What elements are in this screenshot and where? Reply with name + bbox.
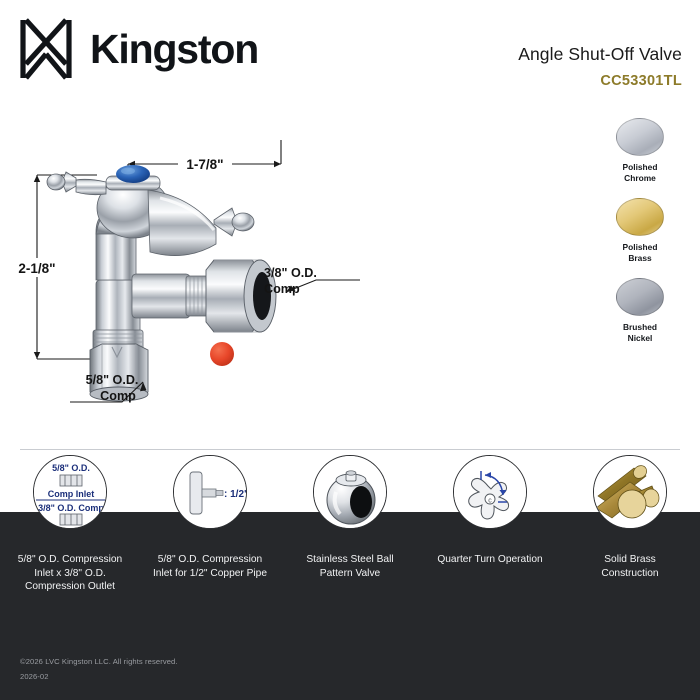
svg-text:c: c (488, 498, 492, 505)
kingston-monogram-icon (18, 18, 74, 80)
feature1-caption-line1: 5/8" O.D. Compression (18, 554, 122, 565)
footer: ©2026 LVC Kingston LLC. All rights reser… (20, 655, 178, 684)
swatch-chip-icon (616, 118, 664, 156)
brass-rods-icon (593, 455, 667, 529)
copper-pipe-icon: : 1/2" (173, 455, 247, 529)
feature-caption: 5/8" O.D. Compression Inlet x 3/8" O.D. … (5, 553, 135, 594)
feature-caption: Quarter Turn Operation (425, 553, 555, 567)
feature2-inner-line1: : 1/2" (224, 489, 247, 500)
feature-item-compression-fitting: 5/8" O.D. Comp Inlet 3/8" O.D. Comp 5/8"… (0, 455, 140, 630)
product-title: Angle Shut-Off Valve (518, 44, 682, 65)
feature5-caption-line1: Solid Brass (604, 554, 656, 565)
finish-label-line1: Polished (623, 242, 658, 252)
swatch-chip-icon (616, 278, 664, 316)
feature2-caption-line1: 5/8" O.D. Compression (158, 554, 262, 565)
feature-list: 5/8" O.D. Comp Inlet 3/8" O.D. Comp 5/8"… (0, 455, 700, 630)
feature-item-quarter-turn: c Quarter Turn Operation (420, 455, 560, 630)
technical-diagram: 1-7/8" 2-1/8" (0, 112, 590, 442)
model-number: CC53301TL (518, 73, 682, 89)
feature-item-steel-ball: Stainless Steel Ball Pattern Valve (280, 455, 420, 630)
dimension-width-label: 1-7/8" (186, 157, 223, 172)
feature-caption: 5/8" O.D. Compression Inlet for 1/2" Cop… (145, 553, 275, 580)
revision-text: 2026-02 (20, 670, 178, 684)
valve-illustration (47, 165, 276, 401)
feature3-caption-line2: Pattern Valve (320, 568, 380, 579)
title-block: Angle Shut-Off Valve CC53301TL (518, 44, 682, 89)
feature2-caption-line2: Inlet for 1/2" Copper Pipe (153, 568, 267, 579)
finish-label-line2: Brass (628, 253, 651, 263)
finish-label-line2: Nickel (628, 333, 653, 343)
finish-label-line1: Polished (623, 162, 658, 172)
quarter-turn-handle-icon: c (453, 455, 527, 529)
finish-label-line1: Brushed (623, 322, 657, 332)
feature1-caption-line3: Compression Outlet (25, 581, 115, 592)
finish-swatch-brushed-nickel[interactable]: Brushed Nickel (588, 278, 692, 344)
feature1-inner-line3: 3/8" O.D. Comp (38, 503, 104, 513)
compression-fitting-icon: 5/8" O.D. Comp Inlet 3/8" O.D. Comp (33, 455, 107, 529)
product-spec-sheet: Kingston Angle Shut-Off Valve CC53301TL … (0, 0, 700, 700)
brand-wordmark: Kingston (90, 29, 258, 70)
section-divider (20, 449, 680, 450)
feature-item-solid-brass: Solid Brass Construction (560, 455, 700, 630)
feature-caption: Solid Brass Construction (565, 553, 695, 580)
callout-outlet: 3/8" O.D. Comp (264, 266, 360, 296)
feature4-caption-line1: Quarter Turn Operation (437, 554, 542, 565)
feature5-caption-line2: Construction (601, 568, 658, 579)
feature1-inner-line1: 5/8" O.D. (52, 463, 90, 473)
feature3-caption-line1: Stainless Steel Ball (306, 554, 393, 565)
callout-outlet-line2: Comp (264, 282, 300, 296)
finish-swatch-list: Polished Chrome Polished Brass Brushed N… (588, 118, 692, 359)
callout-inlet-line1: 5/8" O.D. (86, 373, 139, 387)
header: Kingston Angle Shut-Off Valve CC53301TL (0, 0, 700, 110)
finish-label-line2: Chrome (624, 173, 656, 183)
handle-index-cap-icon (116, 165, 150, 183)
dimension-height-label: 2-1/8" (18, 261, 55, 276)
brand-logo: Kingston (18, 18, 258, 80)
callout-inlet-line2: Comp (100, 389, 136, 403)
feature-item-copper-pipe: : 1/2" 5/8" O.D. Compression Inlet for 1… (140, 455, 280, 630)
callout-outlet-line1: 3/8" O.D. (264, 266, 317, 280)
finish-swatch-polished-brass[interactable]: Polished Brass (588, 198, 692, 264)
swatch-chip-icon (616, 198, 664, 236)
copyright-text: ©2026 LVC Kingston LLC. All rights reser… (20, 655, 178, 669)
feature-caption: Stainless Steel Ball Pattern Valve (285, 553, 415, 580)
finish-swatch-polished-chrome[interactable]: Polished Chrome (588, 118, 692, 184)
accent-dot-icon (210, 342, 234, 366)
feature1-caption-line2: Inlet x 3/8" O.D. (34, 568, 106, 579)
steel-ball-valve-icon (313, 455, 387, 529)
feature1-inner-line2: Comp Inlet (48, 489, 95, 499)
